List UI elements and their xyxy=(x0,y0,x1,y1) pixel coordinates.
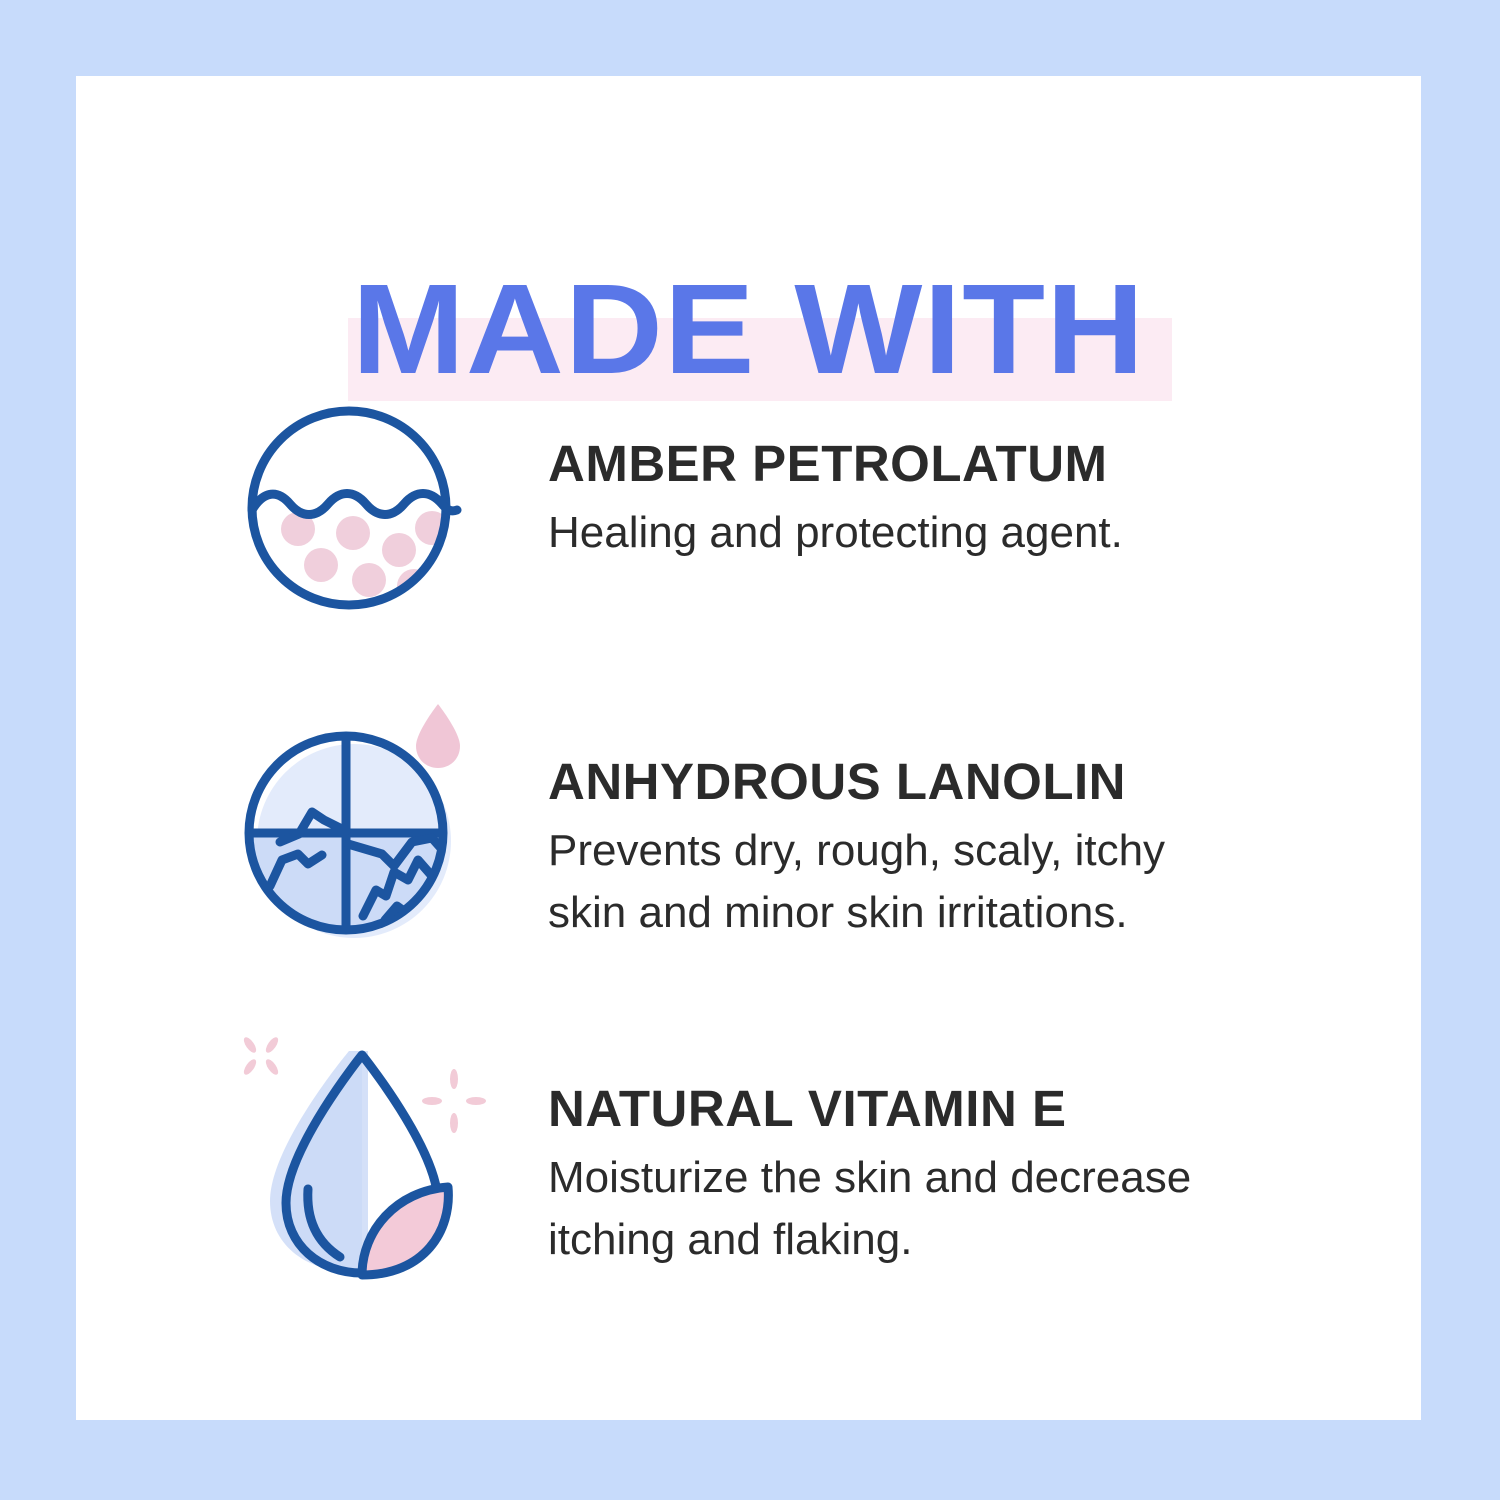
circle-liquid-droplets-icon xyxy=(236,398,474,618)
ingredient-description: Moisturize the skin and decrease itching… xyxy=(548,1147,1248,1271)
ingredient-name: ANHYDROUS LANOLIN xyxy=(548,752,1396,812)
ingredient-text-cell: ANHYDROUS LANOLIN Prevents dry, rough, s… xyxy=(506,690,1396,944)
ingredient-icon-cell xyxy=(236,1031,506,1283)
list-item: AMBER PETROLATUM Healing and protecting … xyxy=(236,398,1396,618)
ingredient-list: AMBER PETROLATUM Healing and protecting … xyxy=(76,76,1421,1420)
ingredient-icon-cell xyxy=(236,690,506,942)
description-line: Moisturize the skin and decrease xyxy=(548,1147,1248,1209)
description-line: Healing and protecting agent. xyxy=(548,502,1248,564)
poster-root: MADE WITH xyxy=(0,0,1500,1500)
list-item: ANHYDROUS LANOLIN Prevents dry, rough, s… xyxy=(236,690,1396,944)
ingredient-description: Prevents dry, rough, scaly, itchy skin a… xyxy=(548,820,1248,944)
sparkle-left xyxy=(242,1035,281,1076)
ingredient-text-cell: AMBER PETROLATUM Healing and protecting … xyxy=(506,398,1396,564)
list-item: NATURAL VITAMIN E Moisturize the skin an… xyxy=(236,1031,1396,1283)
description-line: itching and flaking. xyxy=(548,1209,1248,1271)
ingredient-text-cell: NATURAL VITAMIN E Moisturize the skin an… xyxy=(506,1031,1396,1271)
ingredient-description: Healing and protecting agent. xyxy=(548,502,1248,564)
sparkle-right xyxy=(422,1069,486,1133)
circle-quadrant-dry-skin-icon xyxy=(236,690,474,942)
leaf-droplet-sparkle-icon xyxy=(236,1031,486,1283)
description-line: skin and minor skin irritations. xyxy=(548,882,1248,944)
content-card: MADE WITH xyxy=(76,76,1421,1420)
description-line: Prevents dry, rough, scaly, itchy xyxy=(548,820,1248,882)
ingredient-name: AMBER PETROLATUM xyxy=(548,434,1396,494)
ingredient-name: NATURAL VITAMIN E xyxy=(548,1079,1396,1139)
ingredient-icon-cell xyxy=(236,398,506,618)
